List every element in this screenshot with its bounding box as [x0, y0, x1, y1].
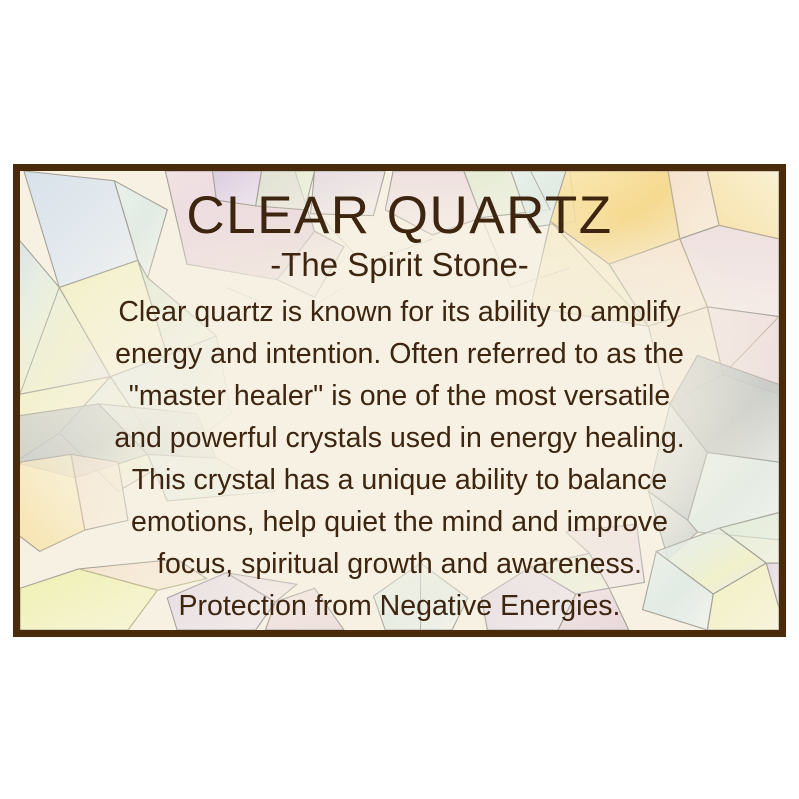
body-line: This crystal has a unique ability to bal… [20, 459, 779, 501]
body-line: emotions, help quiet the mind and improv… [20, 501, 779, 543]
body-line: focus, spiritual growth and awareness. [20, 543, 779, 585]
card-title: CLEAR QUARTZ [186, 187, 612, 245]
crystal-info-card: CLEAR QUARTZ -The Spirit Stone- Clear qu… [13, 164, 786, 637]
card-content: CLEAR QUARTZ -The Spirit Stone- Clear qu… [20, 171, 779, 630]
body-line: Protection from Negative Energies. [20, 585, 779, 627]
card-subtitle: -The Spirit Stone- [270, 245, 529, 285]
body-line: and powerful crystals used in energy hea… [20, 417, 779, 459]
body-line: Clear quartz is known for its ability to… [20, 291, 779, 333]
body-line: energy and intention. Often referred to … [20, 333, 779, 375]
card-body-text: Clear quartz is known for its ability to… [20, 291, 779, 627]
body-line: "master healer" is one of the most versa… [20, 375, 779, 417]
